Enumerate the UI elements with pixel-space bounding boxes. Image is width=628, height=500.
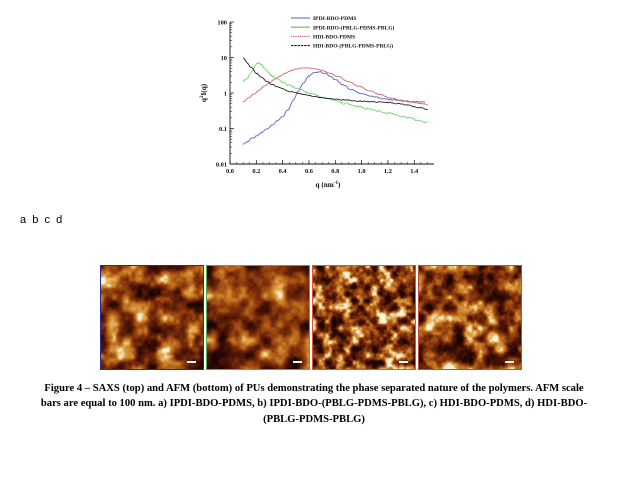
afm-panel-letters: a b c d: [20, 214, 62, 226]
afm-panel-c: [312, 265, 416, 370]
scale-bar-a: [187, 361, 196, 363]
afm-surface-d: [419, 266, 521, 369]
afm-image-c: [313, 266, 415, 369]
saxs-chart: 0.00.20.40.60.81.01.21.40.010.1110100IPD…: [196, 12, 446, 204]
afm-image-a: [101, 266, 203, 369]
afm-panel-d: [418, 265, 522, 370]
scale-bar-b: [293, 361, 302, 363]
y-tick-label: 10: [221, 55, 227, 62]
x-tick-label: 0.4: [279, 168, 288, 175]
y-tick-label: 0.1: [219, 126, 227, 133]
afm-image-b: [207, 266, 309, 369]
legend-label: HDI-BDO-(PBLG-PDMS-PBLG): [313, 43, 393, 50]
series-curve: [243, 63, 427, 123]
scale-bar-d: [505, 361, 514, 363]
y-tick-label: 100: [217, 19, 227, 26]
x-tick-label: 1.0: [358, 168, 366, 175]
afm-surface-c: [313, 266, 415, 369]
scale-bar-c: [399, 361, 408, 363]
x-tick-label: 0.8: [331, 168, 339, 175]
legend-label: IPDI-BDO-(PBLG-PDMS-PBLG): [313, 24, 395, 31]
x-axis-title: q (nm-1): [316, 180, 342, 189]
x-tick-label: 0.6: [305, 168, 314, 175]
y-tick-label: 0.01: [216, 161, 227, 168]
x-tick-label: 1.2: [384, 168, 392, 175]
figure-caption: Figure 4 – SAXS (top) and AFM (bottom) o…: [34, 381, 594, 427]
x-tick-label: 0.0: [226, 168, 234, 175]
series-curve: [243, 58, 427, 110]
y-axis-title: q2I(q): [199, 83, 208, 102]
afm-panel-row: [100, 265, 522, 370]
legend-label: HDI-BDO-PDMS: [313, 35, 355, 41]
afm-panel-b: [206, 265, 310, 370]
saxs-plot-svg: 0.00.20.40.60.81.01.21.40.010.1110100IPD…: [196, 12, 446, 204]
legend-label: IPDI-BDO-PDMS: [313, 16, 357, 22]
x-tick-label: 0.2: [252, 168, 260, 175]
afm-panel-a: [100, 265, 204, 370]
x-tick-label: 1.4: [410, 168, 419, 175]
afm-image-d: [419, 266, 521, 369]
afm-surface-b: [207, 266, 309, 369]
y-tick-label: 1: [224, 90, 227, 97]
afm-surface-a: [101, 266, 203, 369]
